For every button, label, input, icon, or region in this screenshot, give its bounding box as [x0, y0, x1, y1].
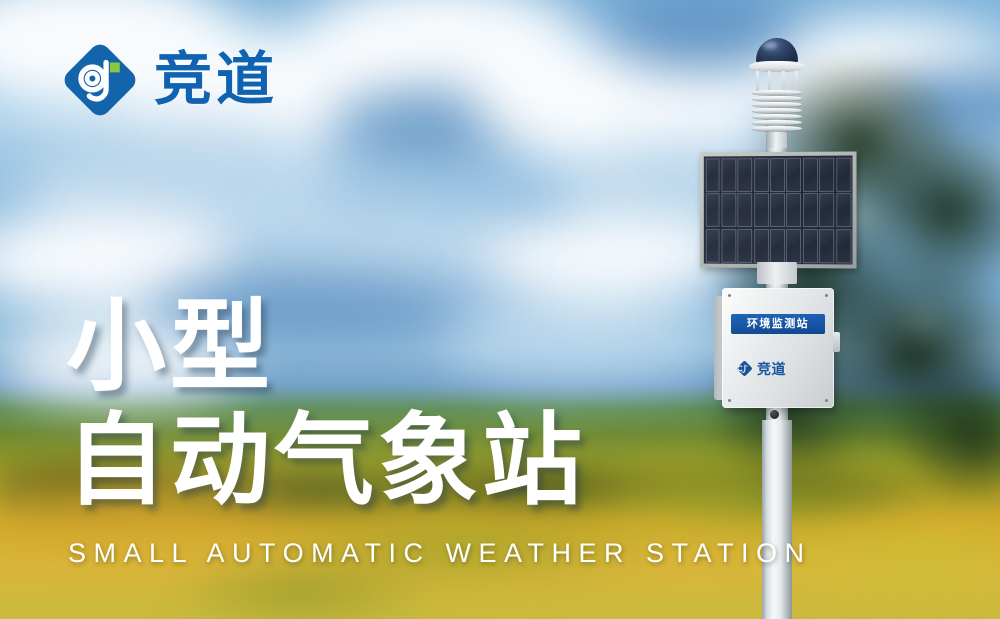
control-box: 环境监测站 竞道	[722, 288, 834, 408]
weather-station-banner: 环境监测站 竞道	[0, 0, 1000, 619]
control-box-logo-text: 竞道	[757, 362, 786, 376]
solar-cell-grid	[704, 156, 853, 265]
mounting-pole-lower	[762, 420, 792, 619]
solar-panel-bracket	[757, 262, 797, 284]
sensor-neck	[767, 132, 787, 148]
control-box-logo: 竞道	[736, 360, 786, 377]
subtitle: SMALL AUTOMATIC WEATHER STATION	[68, 538, 812, 569]
brand-logo[interactable]: 竞道	[62, 42, 278, 118]
radiation-shield	[752, 90, 802, 134]
pole-bolt	[770, 410, 779, 419]
solar-panel-icon	[700, 151, 857, 268]
jingdao-logo-icon	[736, 360, 753, 377]
ultrasonic-weather-sensor-icon	[744, 38, 810, 143]
headline-line-1: 小型	[66, 296, 586, 398]
control-box-banner: 环境监测站	[731, 314, 825, 334]
jingdao-diamond-logo-icon	[62, 42, 138, 118]
page-title: 小型 自动气象站	[66, 296, 586, 512]
control-box-banner-text: 环境监测站	[747, 319, 809, 330]
brand-name: 竞道	[154, 51, 278, 109]
headline-line-2: 自动气象站	[66, 410, 586, 512]
control-box-latch	[833, 332, 840, 352]
